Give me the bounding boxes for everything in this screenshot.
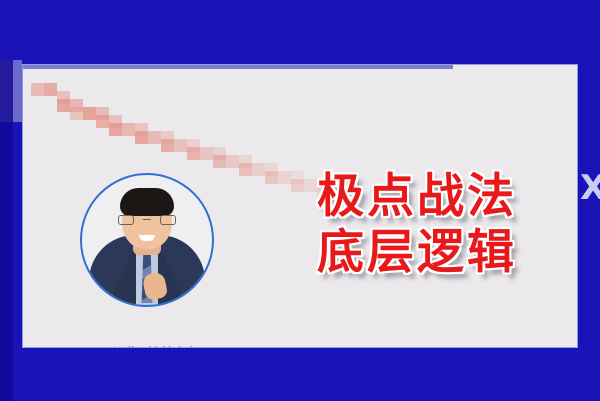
mosaic-cell (213, 147, 226, 160)
mosaic-cell (122, 123, 135, 136)
title-line-1: 极点战法 (255, 169, 578, 225)
mosaic-cell (70, 107, 83, 120)
mosaic-cell (187, 147, 200, 160)
mosaic-cell (109, 123, 122, 136)
mosaic-cell (44, 83, 57, 96)
mosaic-cell (200, 147, 213, 160)
presenter-portrait (80, 173, 214, 307)
panel-top-accent-line (23, 65, 453, 69)
left-gutter-shade (0, 60, 13, 122)
top-blue-band (0, 0, 600, 62)
mosaic-cell (70, 99, 83, 112)
mosaic-cell (226, 155, 239, 168)
mosaic-cell (96, 107, 109, 120)
mosaic-cell (239, 155, 252, 168)
slide-content-panel: 主讲: 翰林老师 德财院特邀名师 翰 林 极点战法 底层逻辑 --作手交易体系之… (22, 64, 578, 348)
mosaic-cell (239, 163, 252, 176)
glasses-bridge-icon (143, 219, 151, 220)
mosaic-cell (83, 107, 96, 120)
mosaic-cell (174, 139, 187, 152)
glasses-left-icon (118, 215, 134, 225)
mosaic-cell (135, 131, 148, 144)
title-line-2: 底层逻辑 (255, 225, 578, 281)
mosaic-cell (57, 99, 70, 112)
portrait-hair (120, 188, 174, 216)
portrait-image (82, 175, 212, 305)
video-slide-frame: 主讲: 翰林老师 德财院特邀名师 翰 林 极点战法 底层逻辑 --作手交易体系之… (0, 0, 600, 401)
glasses-right-icon (160, 215, 176, 225)
mosaic-cell (109, 115, 122, 128)
mosaic-cell (96, 115, 109, 128)
presenter-caption: 主讲: 翰林老师 德财院特邀名师 (75, 345, 235, 348)
mosaic-cell (161, 131, 174, 144)
presenter-name-line: 主讲: 翰林老师 (75, 345, 235, 348)
mosaic-cell (148, 131, 161, 144)
mosaic-cell (135, 123, 148, 136)
edge-cutoff-glyph: X (580, 168, 600, 208)
mosaic-cell (57, 91, 70, 104)
mosaic-cell (161, 139, 174, 152)
left-blue-strip (13, 60, 22, 122)
main-title: 极点战法 底层逻辑 (255, 169, 578, 281)
mosaic-cell (187, 139, 200, 152)
mosaic-cell (31, 83, 44, 96)
mosaic-censor-streak (31, 67, 361, 177)
mosaic-cell (213, 155, 226, 168)
